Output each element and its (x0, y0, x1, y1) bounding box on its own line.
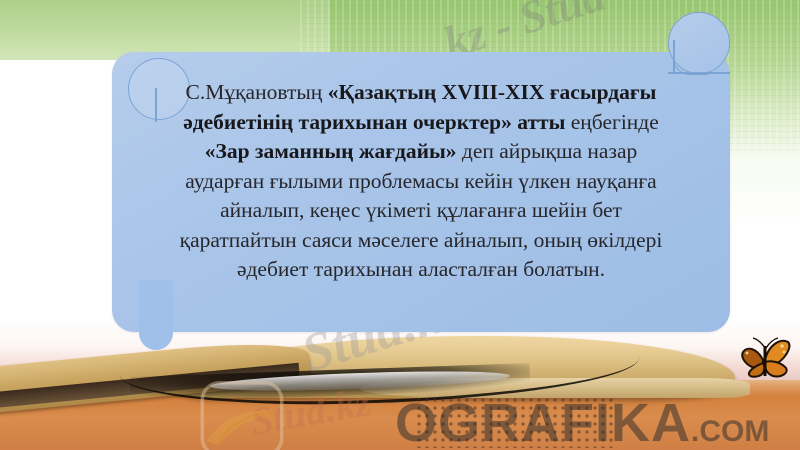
scroll-curl-right-stem (673, 40, 675, 74)
text-line: әдебиет тарихынан аласталған болатын. (124, 255, 718, 285)
text-emphasis: «Қазақтың XVIII-XIX ғасырдағы (328, 80, 657, 104)
text-line: аударған ғылыми проблемасы кейін үлкен н… (124, 167, 718, 197)
text-emphasis: әдебиетінің тарихынан очерктер» атты (183, 110, 565, 134)
slide-canvas: .kz - Stud Stud.kz Stud.kz OGRAFIKA.COM … (0, 0, 800, 450)
text-run: деп айрықша назар (457, 139, 638, 163)
text-run: айналып, кеңес үкіметі құлағанға шейін б… (220, 198, 622, 222)
text-line: «Зар заманның жағдайы» деп айрықша назар (124, 137, 718, 167)
panel-bottom-tab (139, 280, 173, 350)
text-line: әдебиетінің тарихынан очерктер» атты еңб… (124, 108, 718, 138)
scroll-curl-right-inner (673, 40, 708, 75)
panel-layer: С.Мұқановтың «Қазақтың XVIII-XIX ғасырда… (0, 0, 800, 450)
text-line: С.Мұқановтың «Қазақтың XVIII-XIX ғасырда… (124, 78, 718, 108)
text-run: С.Мұқановтың (186, 80, 328, 104)
panel-top-rule (668, 72, 730, 74)
slide-body-text: С.Мұқановтың «Қазақтың XVIII-XIX ғасырда… (124, 78, 718, 285)
text-run: еңбегінде (565, 110, 658, 134)
text-run: әдебиет тарихынан аласталған болатын. (237, 257, 605, 281)
text-line: қаратпайтын саяси мәселеге айналып, оның… (124, 226, 718, 256)
text-emphasis: «Зар заманның жағдайы» (205, 139, 457, 163)
text-run: қаратпайтын саяси мәселеге айналып, оның… (180, 228, 663, 252)
text-run: аударған ғылыми проблемасы кейін үлкен н… (185, 169, 656, 193)
text-line: айналып, кеңес үкіметі құлағанға шейін б… (124, 196, 718, 226)
